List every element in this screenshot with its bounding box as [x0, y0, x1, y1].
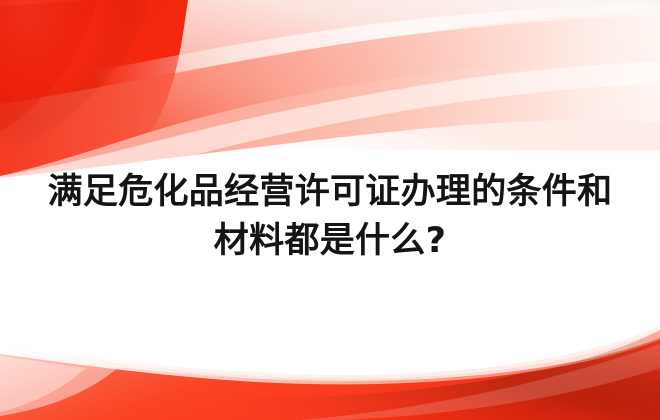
red-swoosh-bottom — [0, 320, 660, 420]
white-center-panel — [0, 190, 660, 320]
title-banner: 满足危化品经营许可证办理的条件和 材料都是什么? — [0, 0, 660, 420]
decorative-banner-artwork — [0, 0, 660, 420]
red-swoosh-top — [0, 0, 660, 192]
